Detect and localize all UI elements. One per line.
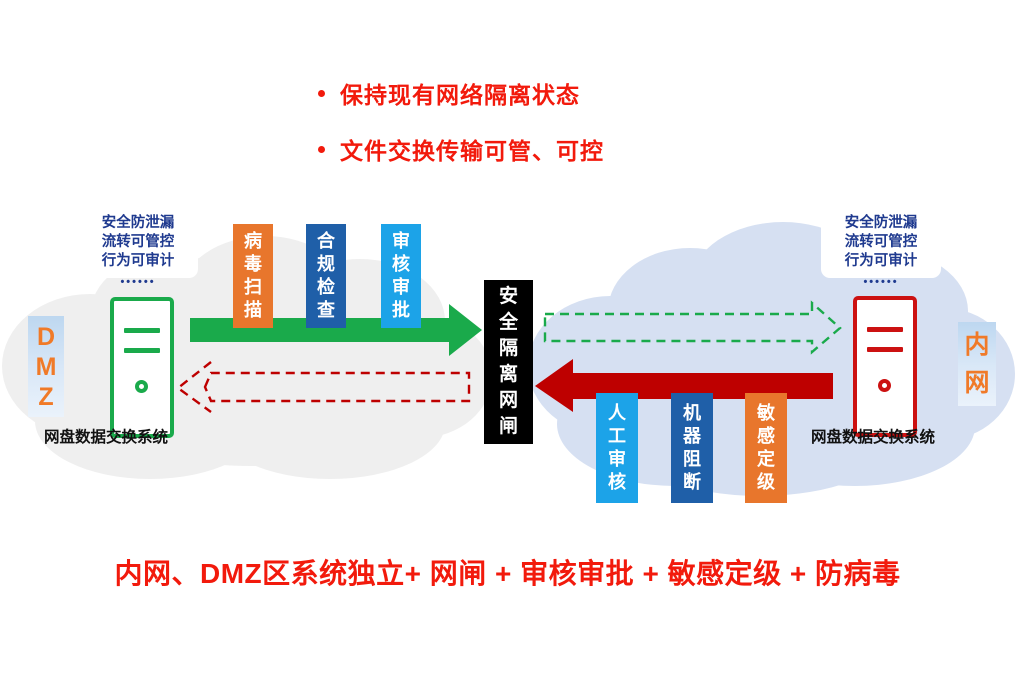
intranet-callout-line-3: 行为可审计 [830, 252, 932, 271]
bullet-list: 保持现有网络隔离状态 文件交换传输可管、可控 [318, 76, 778, 188]
intranet-callout: 安全防泄漏 流转可管控 行为可审计 [821, 206, 941, 278]
bullet-item-2: 文件交换传输可管、可控 [318, 132, 778, 166]
gateway-char: 闸 [499, 414, 518, 440]
intranet-callout-tail-dots: •••••• [821, 276, 941, 288]
dmz-callout-line-1: 安全防泄漏 [87, 214, 189, 233]
bar-char: 敏 [757, 402, 775, 425]
dmz-system-label: 网盘数据交换系统 [44, 425, 168, 447]
bar-char: 检 [317, 276, 335, 299]
bullet-text-1: 保持现有网络隔离状态 [340, 76, 580, 110]
bar-char: 机 [683, 402, 701, 425]
dmz-letter-z: Z [38, 382, 53, 412]
dmz-callout-tail-dots: •••••• [78, 276, 198, 288]
dmz-zone-badge: D M Z [28, 316, 64, 417]
bar-char: 毒 [244, 253, 262, 276]
bar-char: 人 [608, 402, 626, 425]
gateway-char: 网 [499, 388, 518, 414]
bar-char: 合 [317, 230, 335, 253]
gateway-char: 离 [499, 362, 518, 388]
server-line-2 [867, 347, 903, 352]
intranet-system-label: 网盘数据交换系统 [811, 425, 935, 447]
bar-char: 阻 [683, 448, 701, 471]
bar-char: 批 [392, 299, 410, 322]
process-bar-review-approval: 审 核 审 批 [381, 224, 421, 328]
gateway-char: 全 [499, 310, 518, 336]
intranet-callout-line-1: 安全防泄漏 [830, 214, 932, 233]
dmz-callout-line-2: 流转可管控 [87, 233, 189, 252]
bar-char: 器 [683, 425, 701, 448]
bar-char: 核 [392, 253, 410, 276]
bar-char: 断 [683, 471, 701, 494]
security-gateway-box: 安 全 隔 离 网 闸 [484, 280, 533, 444]
gateway-char: 安 [499, 284, 518, 310]
bar-char: 扫 [244, 276, 262, 299]
intranet-zone-badge: 内 网 [958, 322, 996, 406]
intranet-callout-line-2: 流转可管控 [830, 233, 932, 252]
process-bar-virus-scan: 病 毒 扫 描 [233, 224, 273, 328]
dmz-letter-m: M [36, 352, 57, 382]
bar-char: 工 [608, 425, 626, 448]
process-bar-machine-block: 机 器 阻 断 [671, 393, 713, 503]
bar-char: 审 [608, 448, 626, 471]
bar-char: 感 [757, 425, 775, 448]
server-power-icon [878, 379, 891, 392]
dmz-callout: 安全防泄漏 流转可管控 行为可审计 [78, 206, 198, 278]
dmz-letter-d: D [37, 322, 55, 352]
bar-char: 定 [757, 448, 775, 471]
bar-char: 规 [317, 253, 335, 276]
process-bar-manual-review: 人 工 审 核 [596, 393, 638, 503]
server-power-icon [135, 380, 148, 393]
bar-char: 审 [392, 230, 410, 253]
bar-char: 描 [244, 299, 262, 322]
bullet-item-1: 保持现有网络隔离状态 [318, 76, 778, 110]
server-line-1 [124, 328, 160, 333]
dmz-server-icon [110, 297, 174, 438]
gateway-char: 隔 [499, 336, 518, 362]
intranet-char-2: 网 [964, 364, 989, 402]
bar-char: 核 [608, 471, 626, 494]
server-line-2 [124, 348, 160, 353]
bar-char: 审 [392, 276, 410, 299]
bullet-text-2: 文件交换传输可管、可控 [340, 132, 604, 166]
bar-char: 级 [757, 471, 775, 494]
intranet-char-1: 内 [964, 326, 989, 364]
bar-char: 查 [317, 299, 335, 322]
process-bar-compliance-check: 合 规 检 查 [306, 224, 346, 328]
bullet-dot-icon [318, 90, 325, 97]
bar-char: 病 [244, 230, 262, 253]
process-bar-sensitivity-grading: 敏 感 定 级 [745, 393, 787, 503]
intranet-server-icon [853, 296, 917, 437]
summary-footer-text: 内网、DMZ区系统独立+ 网闸 + 审核审批 + 敏感定级 + 防病毒 [0, 552, 1015, 592]
server-line-1 [867, 327, 903, 332]
diagram-canvas: 保持现有网络隔离状态 文件交换传输可管、可控 [0, 0, 1015, 675]
bullet-dot-icon [318, 146, 325, 153]
dmz-callout-line-3: 行为可审计 [87, 252, 189, 271]
